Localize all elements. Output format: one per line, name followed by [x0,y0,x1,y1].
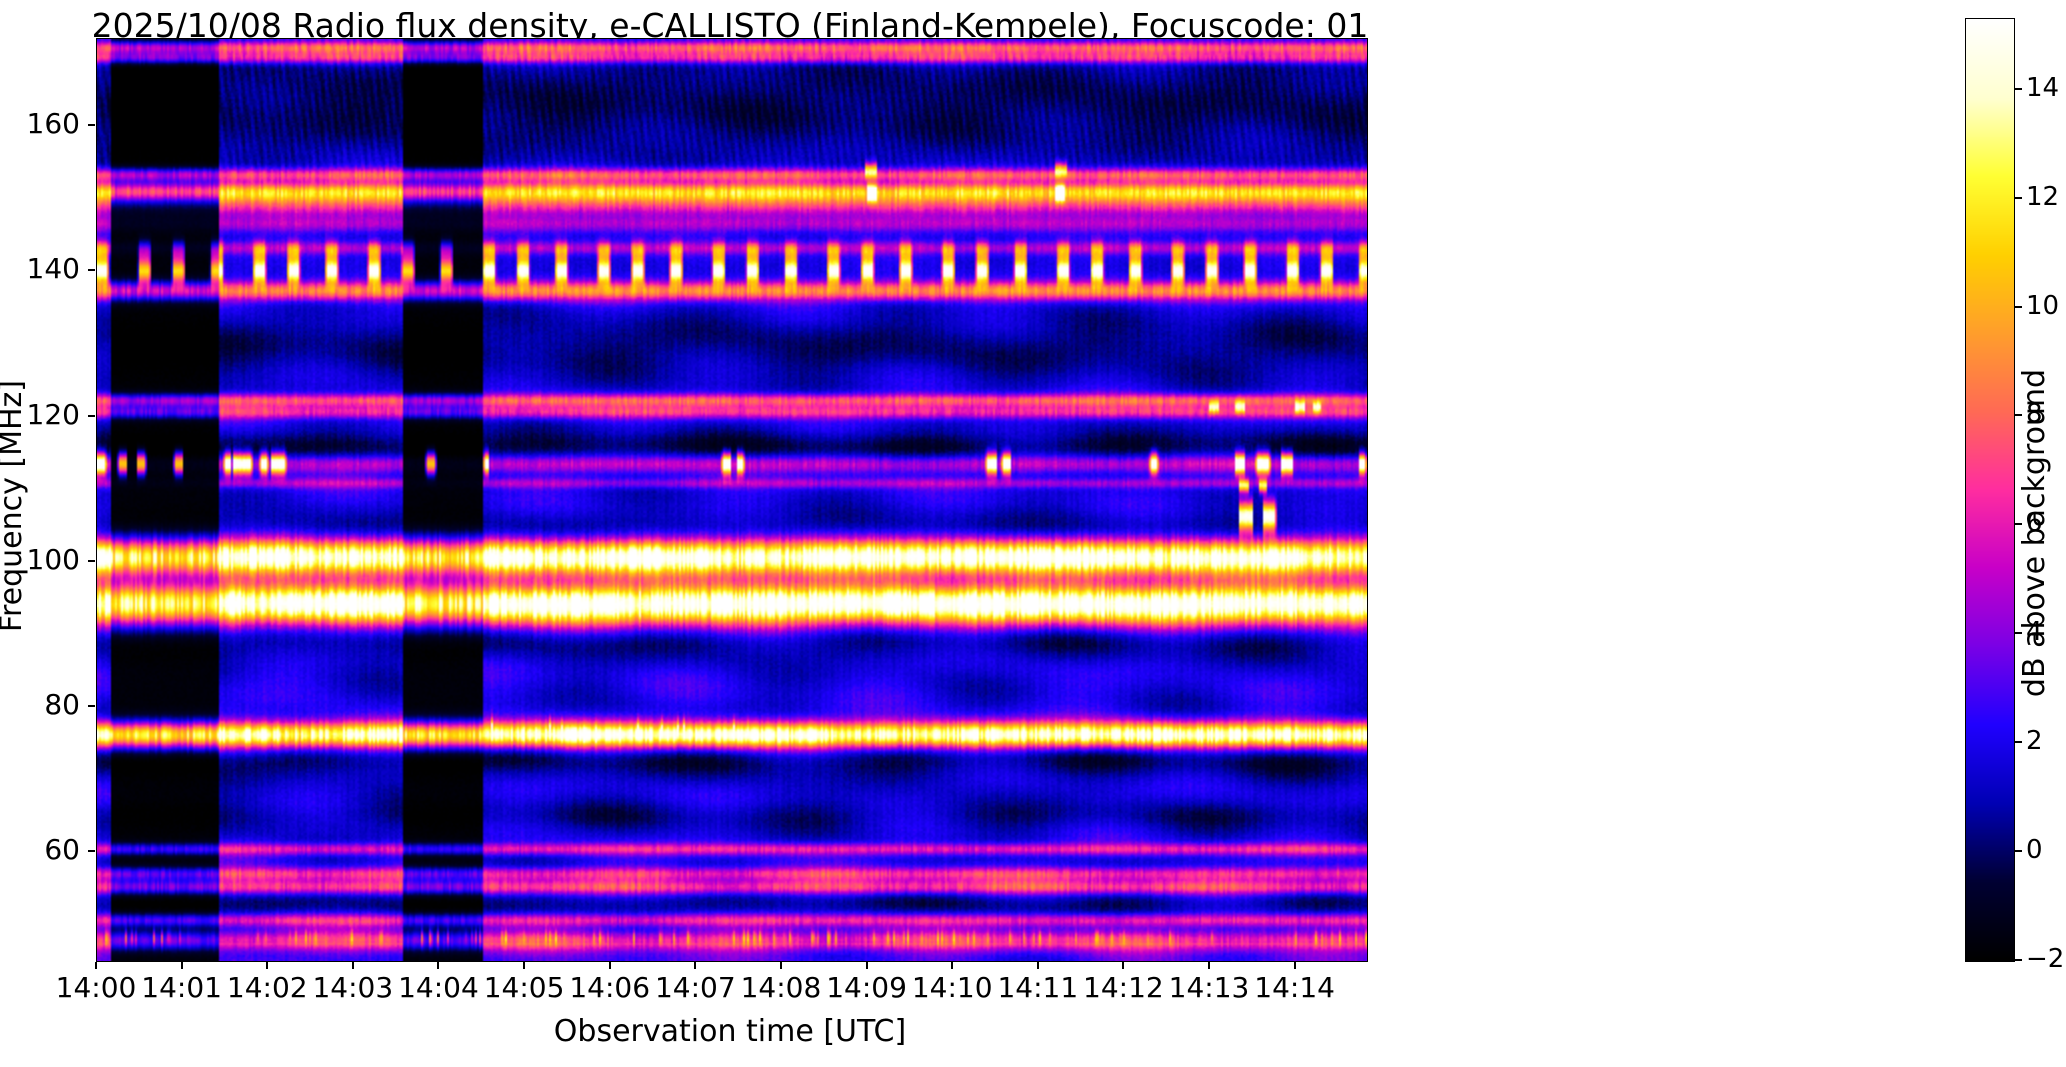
x-tick-mark [780,962,782,969]
y-tick-mark [88,560,95,562]
colorbar-tick-mark [2015,959,2022,961]
x-tick-mark [1122,962,1124,969]
colorbar-tick-mark [2015,306,2022,308]
y-tick-mark [88,269,95,271]
x-tick-mark [1037,962,1039,969]
y-tick-label: 120 [0,401,80,429]
spectrogram-plot-area[interactable] [96,38,1368,962]
colorbar-tick-mark [2015,741,2022,743]
y-tick-label: 100 [0,546,80,574]
x-tick-mark [694,962,696,969]
colorbar-tick-label: 14 [2026,75,2059,101]
x-tick-mark [523,962,525,969]
x-tick-mark [352,962,354,969]
colorbar-gradient [1966,19,2014,961]
colorbar-tick-mark [2015,197,2022,199]
y-tick-label: 160 [0,110,80,138]
y-tick-label: 80 [0,691,80,719]
x-tick-mark [951,962,953,969]
spectrogram-figure: 2025/10/08 Radio flux density, e-CALLIST… [0,0,2066,1067]
spectrogram-canvas [97,39,1367,961]
y-tick-mark [88,705,95,707]
spectrogram-image [97,39,1367,961]
colorbar-tick-label: 0 [2026,837,2043,863]
colorbar-tick-mark [2015,88,2022,90]
x-tick-mark [866,962,868,969]
x-tick-mark [609,962,611,969]
x-tick-mark [1208,962,1210,969]
x-axis-label: Observation time [UTC] [0,1014,1460,1049]
x-tick-mark [181,962,183,969]
y-tick-label: 140 [0,255,80,283]
x-tick-label: 14:14 [1235,974,1355,1002]
colorbar[interactable] [1965,18,2015,962]
x-tick-mark [266,962,268,969]
colorbar-tick-mark [2015,850,2022,852]
x-tick-mark [437,962,439,969]
colorbar-label: dB above background [2017,369,2052,697]
y-tick-mark [88,415,95,417]
x-tick-mark [95,962,97,969]
y-tick-mark [88,124,95,126]
colorbar-tick-label: −2 [2026,946,2064,972]
colorbar-tick-label: 10 [2026,293,2059,319]
colorbar-tick-label: 2 [2026,728,2043,754]
y-tick-mark [88,850,95,852]
y-tick-label: 60 [0,836,80,864]
x-tick-mark [1294,962,1296,969]
colorbar-tick-label: 12 [2026,184,2059,210]
